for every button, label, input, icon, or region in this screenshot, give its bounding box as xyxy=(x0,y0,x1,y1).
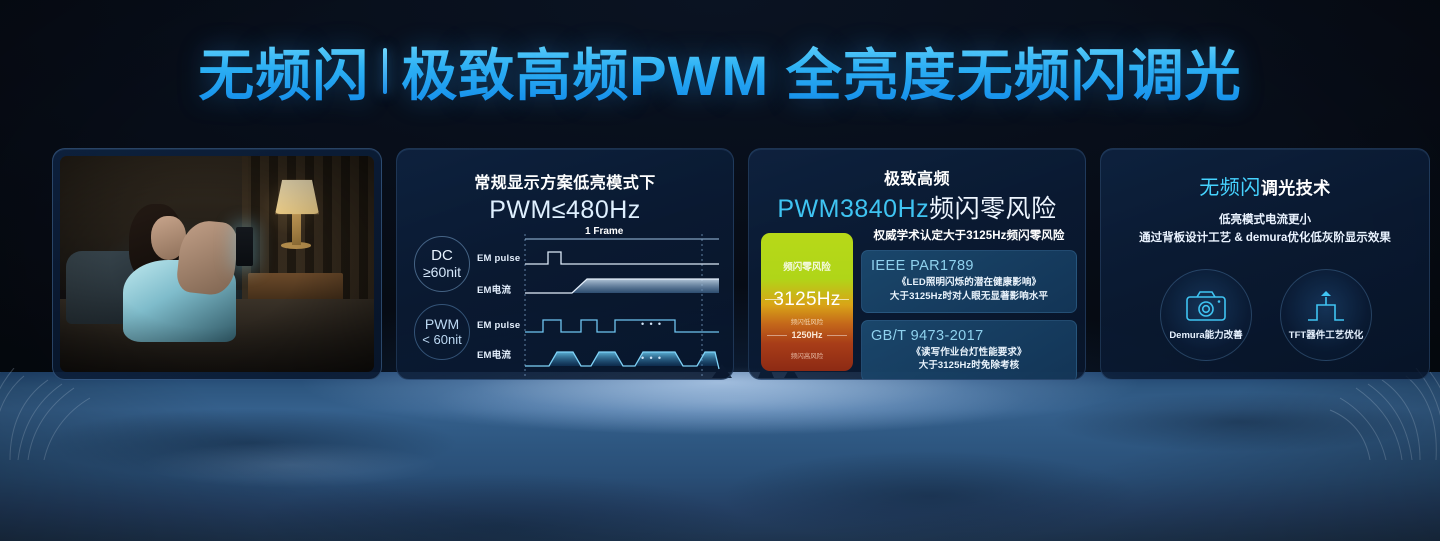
standard-gbt-line2: 大于3125Hz时免除考核 xyxy=(871,359,1067,373)
risk-threshold-3125: 3125Hz xyxy=(761,289,853,311)
tech-sub-line2: 通过背板设计工艺 & demura优化低灰阶显示效果 xyxy=(1121,230,1409,248)
standard-gbt-line1: 《读写作业台灯性能要求》 xyxy=(871,346,1067,360)
waveform-traces: • • • • • • xyxy=(397,231,734,380)
risk-label-low: 频闪低风险 xyxy=(761,316,853,326)
headline-divider xyxy=(383,48,387,94)
grass-silhouette-left xyxy=(0,368,200,460)
feature-demura[interactable]: Demura能力改善 xyxy=(1160,269,1252,361)
standard-ieee-line1: 《LED照明闪烁的潜在健康影响》 xyxy=(871,276,1067,290)
svg-text:• • •: • • • xyxy=(641,353,662,363)
tech-title-cyan: 无频闪 xyxy=(1199,177,1261,199)
headline-part-1: 无频闪 xyxy=(198,31,369,112)
standards-panel: 权威学术认定大于3125Hz频闪零风险 IEEE PAR1789 《LED照明闪… xyxy=(861,227,1077,380)
camera-icon xyxy=(1184,289,1228,323)
night-scene-image xyxy=(60,156,374,372)
pwm-card-subtitle-value: PWM3840Hz xyxy=(777,195,929,223)
feature-tft[interactable]: TFT器件工艺优化 xyxy=(1280,269,1372,361)
tech-feature-list: Demura能力改善 TFT器件工艺优化 xyxy=(1101,269,1430,374)
flicker-risk-gradient-bar: 频闪零风险 3125Hz 频闪低风险 1250Hz 频闪高风险 xyxy=(761,233,853,371)
svg-text:• • •: • • • xyxy=(641,319,662,329)
wave-card-title: 常规显示方案低亮模式下 xyxy=(397,169,733,193)
waveform-diagram: DC ≥60nit PWM < 60nit 1 Frame EM pulse E… xyxy=(397,231,734,380)
card-flicker-free-technology: 无频闪调光技术 低亮模式电流更小 通过背板设计工艺 & demura优化低灰阶显… xyxy=(1100,148,1430,380)
tft-device-icon xyxy=(1304,289,1348,323)
headline-part-2: 极致高频PWM 全亮度无频闪调光 xyxy=(401,31,1241,112)
risk-label-high: 频闪高风险 xyxy=(761,350,853,360)
snow-dune xyxy=(720,450,1140,541)
standard-ieee[interactable]: IEEE PAR1789 《LED照明闪烁的潜在健康影响》 大于3125Hz时对… xyxy=(861,250,1077,313)
standard-gbt[interactable]: GB/T 9473-2017 《读写作业台灯性能要求》 大于3125Hz时免除考… xyxy=(861,320,1077,380)
risk-threshold-1250: 1250Hz xyxy=(761,330,853,340)
feature-demura-label: Demura能力改善 xyxy=(1169,327,1242,341)
tech-sub-line1: 低亮模式电流更小 xyxy=(1121,212,1409,230)
standard-ieee-id: IEEE PAR1789 xyxy=(871,258,1067,274)
pwm-card-subtitle-text: 频闪零风险 xyxy=(929,195,1057,223)
feature-tft-label: TFT器件工艺优化 xyxy=(1289,327,1363,341)
standard-gbt-id: GB/T 9473-2017 xyxy=(871,328,1067,344)
grass-silhouette-right xyxy=(1230,368,1440,460)
background-snowfield xyxy=(0,372,1440,541)
standard-ieee-line2: 大于3125Hz时对人眼无显著影响水平 xyxy=(871,290,1067,304)
card-high-frequency-pwm: 极致高频 PWM3840Hz频闪零风险 频闪零风险 3125Hz 频闪低风险 1… xyxy=(748,148,1086,380)
page-title: 无频闪 极致高频PWM 全亮度无频闪调光 xyxy=(0,36,1440,106)
wave-card-subtitle: PWM≤480Hz xyxy=(397,196,733,225)
tech-title-white: 调光技术 xyxy=(1261,179,1331,198)
card-night-usage-photo xyxy=(52,148,382,380)
pwm-card-title: 极致高频 xyxy=(749,165,1085,189)
standards-heading: 权威学术认定大于3125Hz频闪零风险 xyxy=(861,227,1077,243)
risk-label-zero: 频闪零风险 xyxy=(761,259,853,273)
card-conventional-pwm: 常规显示方案低亮模式下 PWM≤480Hz DC ≥60nit PWM < 60… xyxy=(396,148,734,380)
